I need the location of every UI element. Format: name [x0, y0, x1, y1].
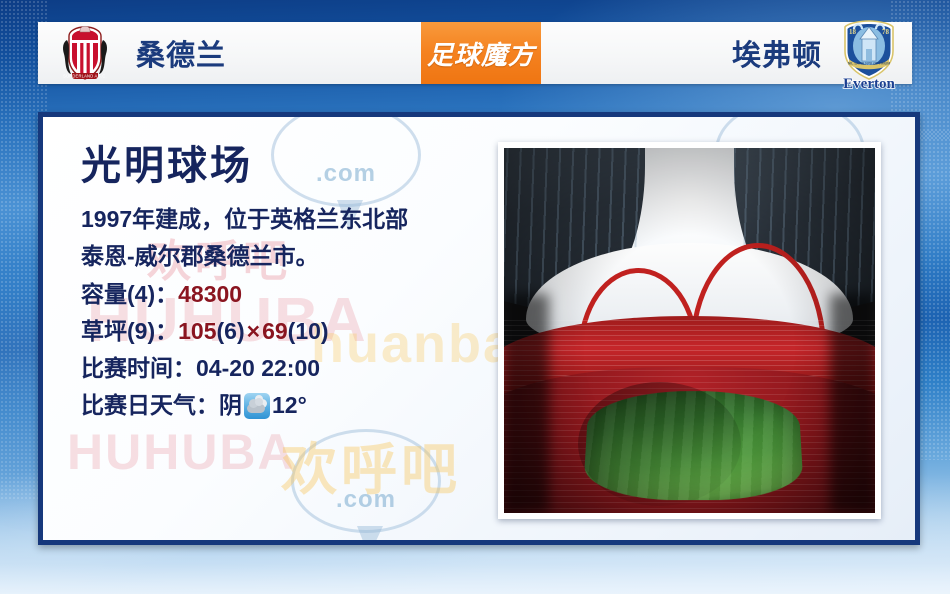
venue-capacity-line: 容量(4)： 48300 — [81, 276, 501, 313]
venue-pitch-line: 草坪(9)： 105 (6) × 69 (10) — [81, 313, 501, 350]
match-weather-label: 比赛日天气： — [81, 387, 219, 424]
match-time-value: 04-20 22:00 — [196, 350, 320, 387]
venue-pitch-width: 69 — [262, 313, 288, 350]
away-team-name: 埃弗顿 — [732, 32, 822, 74]
background-dot-texture-bottom-left — [0, 120, 42, 500]
home-team-name: 桑德兰 — [136, 32, 226, 74]
venue-pitch-label: 草坪(9)： — [81, 313, 178, 350]
venue-info-card: .com .com .com HUHUBA huanba HUHUBA 欢呼吧 … — [38, 112, 920, 545]
venue-pitch-length-rank: (6) — [217, 313, 245, 350]
stadium-photo — [504, 148, 875, 513]
everton-crest-year-left: 18 — [849, 28, 857, 36]
venue-description-1-text: 1997年建成，位于英格兰东北部 — [81, 201, 408, 238]
watermark-latin-lower-text: HUHUBA — [67, 424, 296, 480]
venue-pitch-length: 105 — [178, 313, 216, 350]
away-team-block[interactable]: 埃弗顿 18 78 NIL SATIS NISI OPTIMUM Everton — [732, 22, 912, 84]
watermark-bubble-bottom: .com — [291, 429, 441, 533]
everton-crest-year-right: 78 — [882, 28, 890, 36]
venue-title: 光明球场 — [81, 145, 501, 187]
svg-text:NIL SATIS NISI OPTIMUM: NIL SATIS NISI OPTIMUM — [848, 62, 891, 66]
stadium-vignette — [504, 148, 875, 513]
site-logo-text: 足球魔方 — [427, 35, 535, 72]
site-logo[interactable]: 足球魔方 — [421, 22, 541, 84]
venue-capacity-value: 48300 — [178, 276, 242, 313]
venue-info-text-block: 光明球场 1997年建成，位于英格兰东北部 泰恩-威尔郡桑德兰市。 容量(4)：… — [81, 145, 501, 425]
match-weather-line: 比赛日天气： 阴 12° — [81, 387, 501, 424]
watermark-dotcom-bottom: .com — [336, 486, 396, 514]
venue-description-line-2: 泰恩-威尔郡桑德兰市。 — [81, 238, 501, 275]
home-team-block[interactable]: SUNDERLAND A.F.C. 桑德兰 — [38, 22, 226, 84]
everton-crest-icon: 18 78 NIL SATIS NISI OPTIMUM Everton — [838, 19, 900, 91]
match-weather-condition: 阴 — [219, 387, 242, 424]
venue-pitch-width-rank: (10) — [288, 313, 329, 350]
match-time-label: 比赛时间： — [81, 350, 196, 387]
watermark-latin-lower: HUHUBA — [67, 423, 296, 481]
match-venue-infographic: SUNDERLAND A.F.C. 桑德兰 埃弗顿 18 78 — [0, 0, 950, 594]
venue-description-2-text: 泰恩-威尔郡桑德兰市。 — [81, 238, 319, 275]
venue-capacity-label: 容量(4)： — [81, 276, 178, 313]
match-time-line: 比赛时间： 04-20 22:00 — [81, 350, 501, 387]
watermark-huanhuba-bottom: 欢呼吧 — [281, 425, 461, 506]
everton-crest-caption: Everton — [843, 76, 895, 91]
venue-description-line-1: 1997年建成，位于英格兰东北部 — [81, 201, 501, 238]
svg-text:SUNDERLAND A.F.C.: SUNDERLAND A.F.C. — [63, 73, 107, 78]
stadium-photo-frame[interactable] — [498, 142, 881, 519]
sunderland-crest-icon: SUNDERLAND A.F.C. — [56, 24, 114, 82]
cloudy-icon — [244, 393, 270, 419]
match-weather-temperature: 12° — [272, 387, 307, 424]
watermark-huanhuba-bottom-text: 欢呼吧 — [281, 438, 461, 501]
venue-pitch-separator: × — [245, 313, 262, 350]
